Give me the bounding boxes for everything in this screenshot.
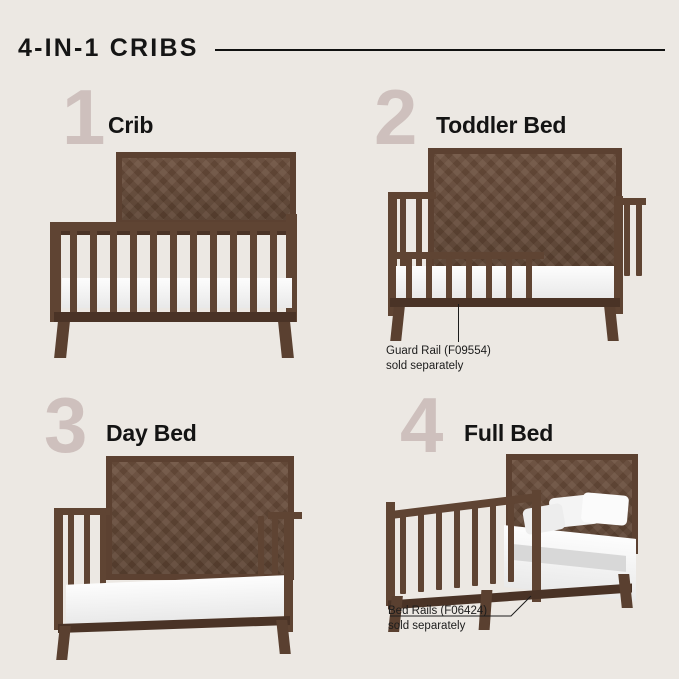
crib-slat <box>210 230 217 316</box>
guard-rail-slat <box>426 256 432 300</box>
toddler-base-rail <box>390 298 620 307</box>
step-number-1: 1 <box>62 78 103 156</box>
crib-illustration <box>40 148 340 368</box>
crib-bottom-rail <box>54 312 296 322</box>
panel-day-bed: 3 Day Bed <box>28 400 328 660</box>
daybed-left-post <box>54 508 63 630</box>
panel-crib: 1 Crib <box>40 92 340 362</box>
step-number-3: 3 <box>44 386 85 464</box>
crib-slat <box>190 230 197 316</box>
panel-toddler-head: 2 Toddler Bed <box>366 92 666 154</box>
toddler-right-top-rail <box>618 198 646 205</box>
header: 4-IN-1 CRIBS <box>18 28 665 68</box>
step-label-1: Crib <box>108 112 153 139</box>
guard-rail-slat <box>406 256 412 300</box>
step-number-2: 2 <box>374 78 415 156</box>
crib-slat <box>110 230 117 316</box>
crib-slat <box>270 230 277 316</box>
crib-headboard-frame <box>116 152 296 226</box>
toddler-left-top-rail <box>388 192 436 199</box>
step-label-2: Toddler Bed <box>436 112 566 139</box>
page-title: 4-IN-1 CRIBS <box>18 34 199 63</box>
guard-rail-leader-line <box>458 304 459 342</box>
crib-leg <box>278 322 294 358</box>
guard-rail-slat <box>466 256 472 300</box>
toddler-bed-illustration <box>366 148 666 348</box>
crib-slat <box>230 230 237 316</box>
crib-slat <box>250 230 257 316</box>
guard-rail-slat <box>486 256 492 300</box>
crib-slat <box>130 230 137 316</box>
crib-slat <box>150 230 157 316</box>
panel-day-head: 3 Day Bed <box>28 400 328 462</box>
daybed-leg <box>56 626 71 660</box>
toddler-slat <box>416 196 422 274</box>
toddler-slat <box>624 204 630 276</box>
toddler-slat <box>636 204 642 276</box>
panel-full-bed: 4 Full Bed <box>376 400 676 660</box>
toddler-right-post <box>614 196 623 314</box>
bed-rails-note: Bed Rails (F06424) sold separately <box>388 604 487 634</box>
header-rule <box>215 49 665 51</box>
crib-leg <box>54 322 70 358</box>
daybed-right-post <box>284 512 293 632</box>
step-label-3: Day Bed <box>106 420 197 447</box>
infographic-page: 4-IN-1 CRIBS 1 Crib <box>0 0 679 679</box>
guard-rail-slat <box>526 256 532 300</box>
crib-slat <box>90 230 97 316</box>
guard-rail-note: Guard Rail (F09554) sold separately <box>386 344 491 374</box>
guard-rail-slat <box>446 256 452 300</box>
day-bed-illustration <box>28 454 328 664</box>
panel-crib-head: 1 Crib <box>40 92 340 154</box>
crib-slat <box>70 230 77 316</box>
daybed-headboard-frame <box>106 456 294 580</box>
toddler-leg <box>390 307 405 341</box>
guard-rail-slat <box>506 256 512 300</box>
crib-left-post <box>50 222 61 322</box>
panel-toddler-bed: 2 Toddler Bed <box>366 92 666 392</box>
crib-slat <box>170 230 177 316</box>
